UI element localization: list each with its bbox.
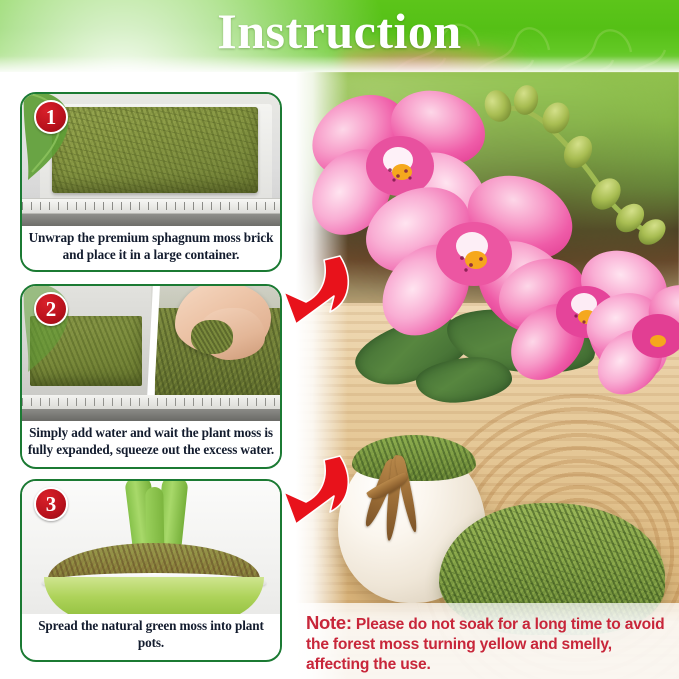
hero-product-image	[296, 72, 679, 679]
flow-arrow-1-icon	[280, 252, 356, 336]
step-photo-2: 2	[22, 286, 280, 421]
steps-column: 1 Unwrap the premium sphagnum moss brick…	[0, 72, 296, 679]
page-header: Instruction	[0, 0, 679, 72]
step-card-2[interactable]: 2 Simply add water and wait the plant mo…	[20, 284, 282, 469]
note-body: Please do not soak for a long time to av…	[306, 616, 664, 673]
step-badge-3: 3	[34, 487, 68, 521]
step-badge-2: 2	[34, 292, 68, 326]
flow-arrow-2-icon	[280, 452, 356, 536]
orchid-flowers	[296, 72, 679, 396]
step-caption-3: Spread the natural green moss into plant…	[22, 614, 280, 655]
note-label: Note:	[306, 612, 352, 633]
page-title: Instruction	[0, 2, 679, 60]
note-text: Note: Please do not soak for a long time…	[296, 611, 674, 675]
step-photo-1: 1	[22, 94, 280, 226]
step-photo-3: 3	[22, 481, 280, 614]
step-caption-2: Simply add water and wait the plant moss…	[22, 421, 280, 462]
step-card-1[interactable]: 1 Unwrap the premium sphagnum moss brick…	[20, 92, 282, 272]
step-badge-1: 1	[34, 100, 68, 134]
step-caption-1: Unwrap the premium sphagnum moss brick a…	[22, 226, 280, 267]
instruction-page: Instruction 1 Unwrap the premium sphagnu…	[0, 0, 679, 679]
step-card-3[interactable]: 3 Spread the natural green moss into pla…	[20, 479, 282, 662]
